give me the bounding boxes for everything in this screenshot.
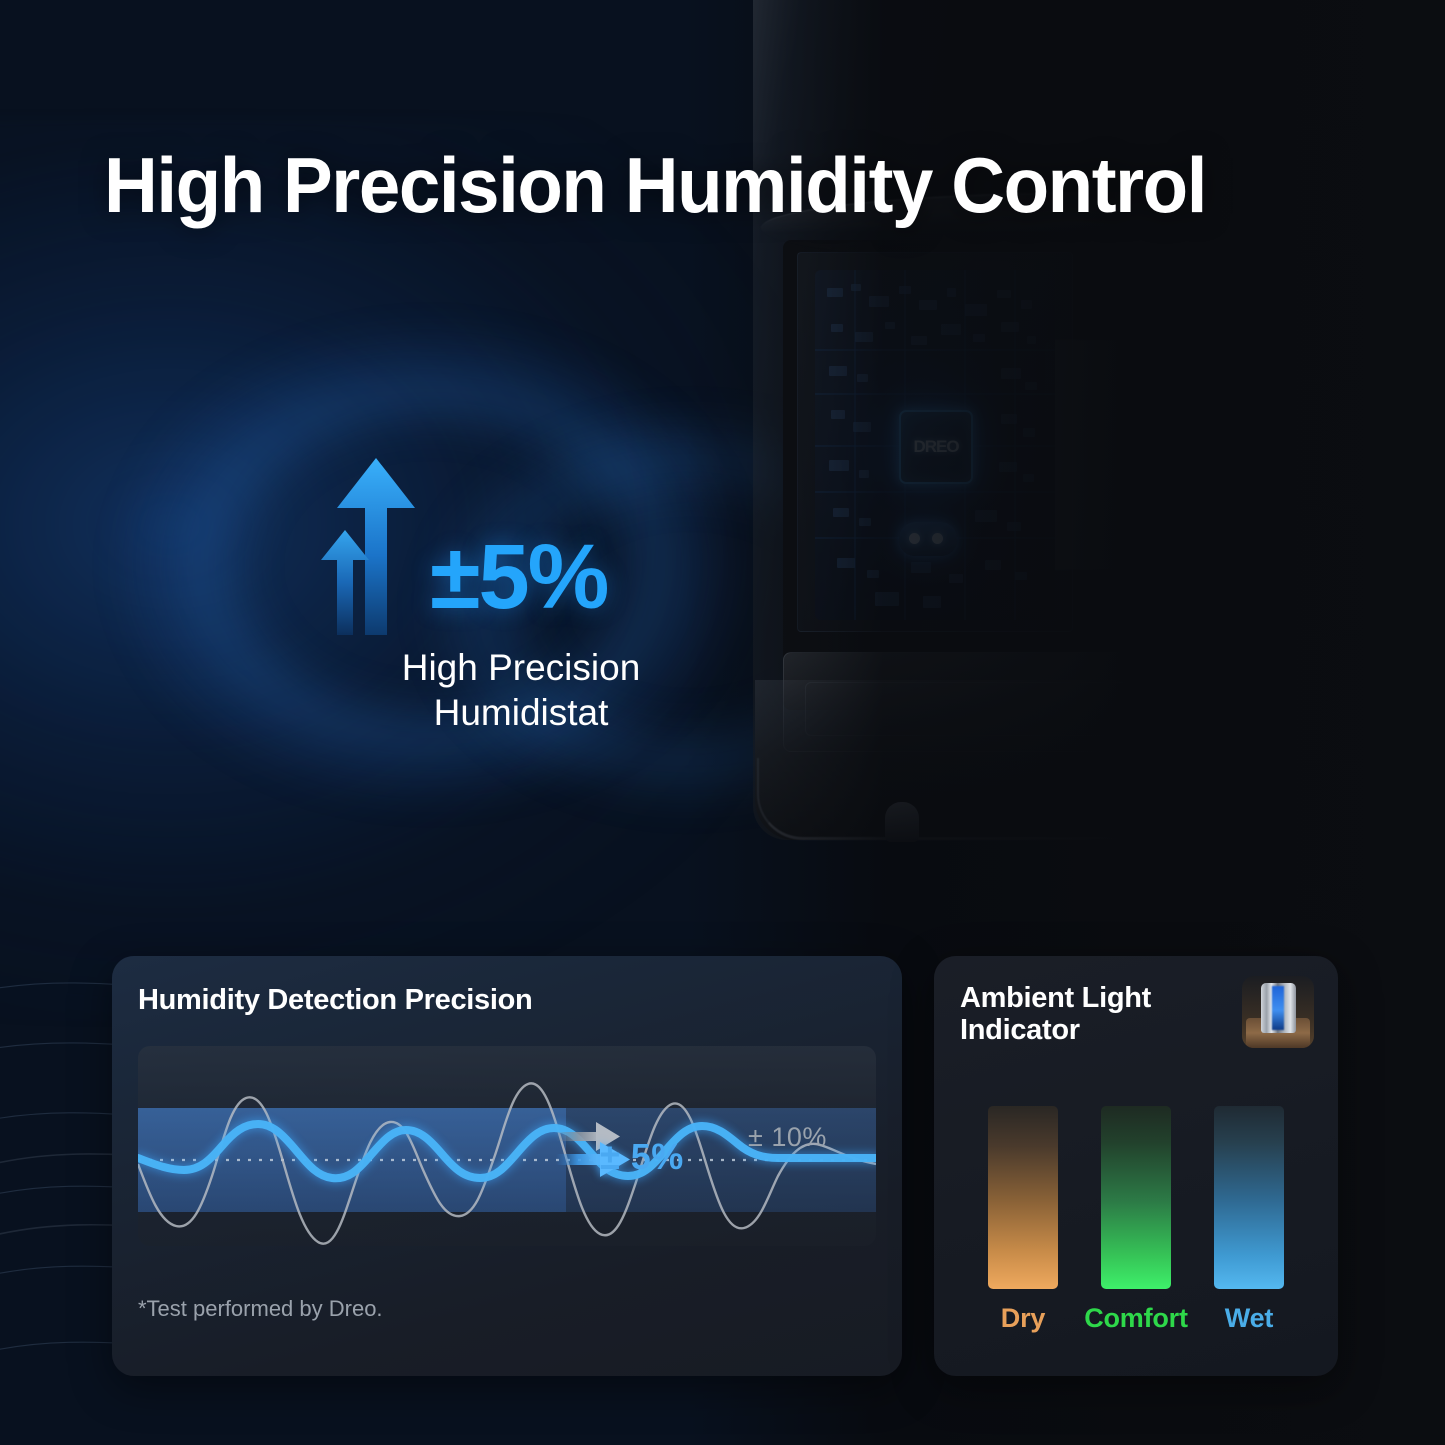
upward-arrows-group — [315, 450, 430, 635]
ambient-light-title-line1: Ambient Light — [960, 982, 1151, 1014]
precision-value: ±5% — [430, 534, 607, 621]
thumbnail-light-strip — [1272, 986, 1284, 1030]
ambient-light-bars: Dry Comfort Wet — [934, 1106, 1338, 1306]
tolerance-label-5: ± 5% — [600, 1136, 684, 1178]
ambient-bar-dry: Dry — [988, 1106, 1058, 1334]
page-title: High Precision Humidity Control — [104, 140, 1206, 231]
bar-label-comfort: Comfort — [1084, 1303, 1188, 1334]
bar-gradient-dry — [988, 1106, 1058, 1289]
ambient-bar-wet: Wet — [1214, 1106, 1284, 1334]
bar-gradient-comfort — [1101, 1106, 1171, 1289]
precision-chart: ± 10% — [138, 1046, 876, 1246]
ambient-light-title-line2: Indicator — [960, 1014, 1151, 1046]
ambient-bar-comfort: Comfort — [1101, 1106, 1171, 1334]
ambient-light-panel: Ambient Light Indicator Dry Comfort Wet — [934, 956, 1338, 1376]
arrow-up-icon — [315, 450, 430, 635]
precision-caption-line1: High Precision — [311, 645, 731, 690]
bar-gradient-wet — [1214, 1106, 1284, 1289]
bar-label-wet: Wet — [1225, 1303, 1273, 1334]
humidifier-thumbnail — [1242, 976, 1314, 1048]
chart-footnote: *Test performed by Dreo. — [138, 1296, 383, 1322]
tolerance-label-10: ± 10% — [748, 1122, 827, 1153]
marketing-image-canvas: DREO High Precision Humidity Control — [0, 0, 1445, 1445]
ambient-light-title: Ambient Light Indicator — [960, 982, 1151, 1047]
bar-label-dry: Dry — [1001, 1303, 1045, 1334]
humidity-precision-title: Humidity Detection Precision — [138, 984, 532, 1017]
humidity-precision-panel: Humidity Detection Precision — [112, 956, 902, 1376]
precision-caption: High Precision Humidistat — [311, 645, 731, 735]
precision-caption-line2: Humidistat — [311, 690, 731, 735]
precision-callout: ±5% High Precision Humidistat — [315, 450, 735, 735]
